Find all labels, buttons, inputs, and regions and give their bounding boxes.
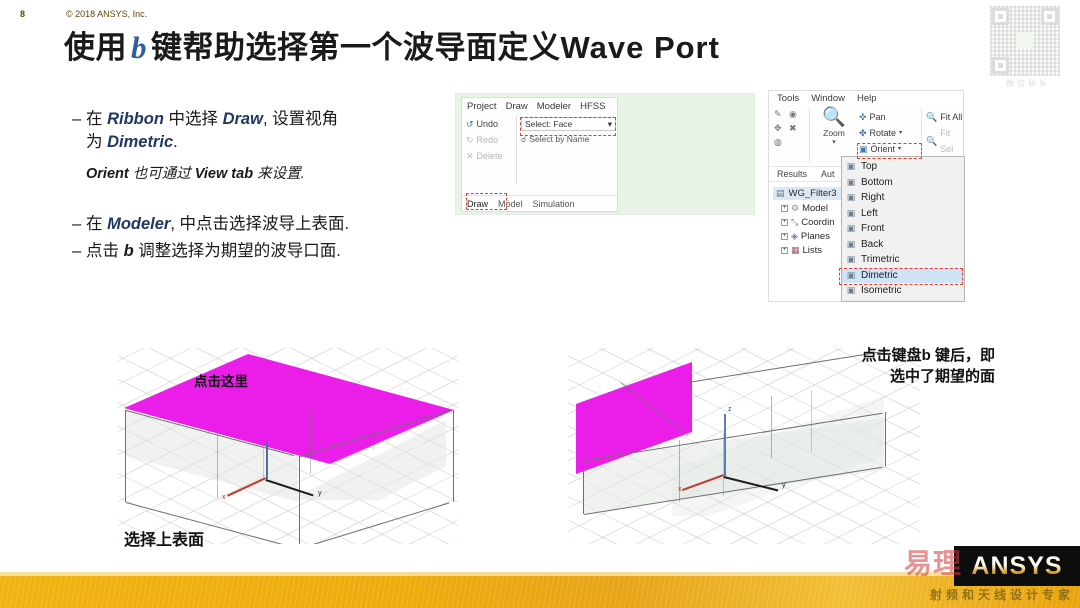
- pan-label: Pan: [870, 109, 886, 125]
- list-item: – 在 Ribbon 中选择 Draw, 设置视角为 Dimetric.: [72, 108, 472, 155]
- box-edge: [125, 410, 126, 502]
- qr-eye-bottom-left: [992, 57, 1009, 74]
- tree-label: Model: [802, 203, 828, 214]
- bullet-dash: –: [72, 108, 86, 155]
- pointer-icon: ☌: [521, 135, 526, 144]
- tree-label: Coordin: [801, 217, 834, 228]
- cube-icon: ▣: [859, 141, 868, 157]
- box-edge: [299, 456, 300, 544]
- iris-edge: [217, 432, 218, 498]
- menu-item-left[interactable]: ▣ Left: [842, 206, 964, 222]
- bullet-emphasis-ribbon: Ribbon: [107, 110, 164, 128]
- menu-item-front[interactable]: ▣ Front: [842, 221, 964, 237]
- tab-draw[interactable]: Draw: [462, 199, 493, 209]
- ansys-logo-text: ANSYS: [971, 552, 1062, 581]
- cube-top-icon: ▣: [846, 159, 856, 174]
- menu-item-trimetric[interactable]: ▣ Trimetric: [842, 252, 964, 268]
- menu-label: Trimetric: [861, 252, 900, 267]
- bullet-seg: 为: [86, 133, 107, 151]
- bullet-seg: 点击: [86, 242, 124, 260]
- bullet-seg: 在: [86, 215, 107, 233]
- slide-root: 微信联系 使用b键帮助选择第一个波导面定义Wave Port – 在 Ribbo…: [0, 0, 1080, 608]
- tree-label: Planes: [801, 231, 830, 242]
- ribbon-screenshot: Project Draw Modeler HFSS ↺ Undo ↻ Redo: [455, 93, 755, 215]
- menu-item-project[interactable]: Project: [467, 101, 497, 112]
- page-number: 8: [20, 9, 25, 19]
- delete-label: Delete: [477, 148, 503, 164]
- chevron-down-icon[interactable]: ▾: [898, 141, 901, 157]
- bullet-emphasis-dimetric: Dimetric: [107, 133, 173, 151]
- sub-note: Orient 也可通过 View tab 来设置.: [86, 162, 472, 183]
- menu-item-tools[interactable]: Tools: [777, 93, 799, 104]
- copyright-text: © 2018 ANSYS, Inc.: [66, 9, 147, 19]
- y-axis-label: y: [318, 490, 322, 497]
- select-mode-dropdown[interactable]: Select: Face ▾: [521, 117, 616, 131]
- cube-right-icon: ▣: [846, 190, 856, 205]
- eye-icon[interactable]: ◉: [789, 109, 801, 120]
- model-icon: ⚙: [791, 203, 799, 214]
- cube-dimetric-icon: ▣: [846, 268, 856, 283]
- watermark-red-text: 易理: [904, 542, 962, 582]
- menu-item-top[interactable]: ▣ Top: [842, 159, 964, 175]
- project-name: WG_Filter3: [789, 188, 837, 199]
- qr-eye-top-right: [1041, 8, 1058, 25]
- hide-icon[interactable]: ✖: [789, 123, 801, 134]
- menu-item-isometric[interactable]: ▣ Isometric: [842, 283, 964, 299]
- menu-item-draw[interactable]: Draw: [506, 101, 528, 112]
- note-view-tab: View tab: [195, 166, 253, 182]
- box-edge: [583, 460, 584, 514]
- z-axis: [724, 414, 726, 476]
- bullet-emphasis-b: b: [124, 242, 134, 260]
- page-title: 使用b键帮助选择第一个波导面定义Wave Port: [64, 22, 720, 67]
- chevron-down-icon[interactable]: ▾: [899, 125, 902, 141]
- right-view-caption: 点击键盘b 键后，即 选中了期望的面: [805, 345, 995, 387]
- menu-label: Front: [861, 221, 884, 236]
- rotate-button[interactable]: ✤ Rotate ▾: [859, 125, 921, 141]
- bullet-text: 点击 b 调整选择为期望的波导口面.: [86, 240, 341, 263]
- viewport-select-top-face[interactable]: x y 点击这里: [118, 348, 458, 544]
- left-view-caption: 选择上表面: [124, 526, 204, 550]
- x-axis-label: x: [222, 494, 226, 501]
- redo-icon: ↻: [466, 132, 474, 148]
- tab-simulation[interactable]: Simulation: [528, 199, 580, 209]
- chevron-down-icon[interactable]: ▾: [608, 119, 612, 130]
- iris-edge: [771, 396, 772, 458]
- cube-bottom-icon: ▣: [846, 175, 856, 190]
- iris-edge: [373, 392, 374, 450]
- iris-edge: [263, 418, 264, 478]
- view-command-group: ✜ Pan ✤ Rotate ▾ ▣ Orient ▾: [859, 109, 921, 157]
- caption-line-2: 选中了期望的面: [890, 368, 995, 385]
- z-axis: [266, 441, 268, 479]
- x-axis-label: x: [678, 486, 682, 493]
- undo-icon: ↺: [466, 116, 474, 132]
- ansys-logo: ANSYS: [954, 546, 1080, 586]
- menu-item-dimetric[interactable]: ▣ Dimetric: [842, 268, 964, 284]
- pan-button[interactable]: ✜ Pan: [859, 109, 921, 125]
- divider: [921, 108, 922, 163]
- ribbon-tabbar: Draw Model Simulation: [462, 195, 617, 211]
- menu-label: Bottom: [861, 175, 893, 190]
- click-here-annotation: 点击这里: [194, 370, 248, 390]
- undo-label: Undo: [477, 116, 499, 132]
- bullet-list: – 在 Ribbon 中选择 Draw, 设置视角为 Dimetric. Ori…: [72, 108, 472, 264]
- menu-label: Isometric: [861, 283, 902, 298]
- expand-icon[interactable]: +: [781, 219, 788, 226]
- orient-button[interactable]: ▣ Orient ▾: [859, 141, 921, 157]
- plane-icon: ◈: [791, 231, 798, 242]
- title-part-latin: Wave Port: [561, 30, 720, 65]
- ribbon-menubar: Project Draw Modeler HFSS: [462, 98, 617, 114]
- cube-front-icon: ▣: [846, 221, 856, 236]
- bullet-seg: 调整选择为期望的波导口面.: [134, 242, 341, 260]
- menu-item-right[interactable]: ▣ Right: [842, 190, 964, 206]
- delete-button[interactable]: ✕ Delete: [466, 148, 514, 164]
- menu-label: Dimetric: [861, 268, 898, 283]
- title-part-pre: 使用: [64, 30, 127, 65]
- select-by-name-button[interactable]: ☌ Select by Name: [521, 134, 616, 144]
- menu-item-back[interactable]: ▣ Back: [842, 237, 964, 253]
- orient-dropdown-menu[interactable]: ▣ Top ▣ Bottom ▣ Right ▣ Left ▣ Front ▣ …: [841, 156, 965, 302]
- pan-icon: ✜: [859, 109, 867, 125]
- select-by-name-label: Select by Name: [529, 134, 589, 144]
- list-icon: ▦: [791, 245, 800, 256]
- shade-icon[interactable]: ◍: [774, 137, 786, 148]
- close-icon: ✕: [466, 148, 474, 164]
- bullet-seg: 中选择: [164, 110, 223, 128]
- qr-code-icon: [990, 6, 1060, 76]
- tab-automation[interactable]: Aut: [821, 169, 835, 179]
- rotate-icon: ✤: [859, 125, 867, 141]
- iris-edge: [811, 390, 812, 452]
- fit-selection-label: Fit Sel: [940, 125, 963, 157]
- magnifier-icon: 🔍: [813, 108, 855, 128]
- fit-all-icon: 🔍: [926, 109, 937, 125]
- qr-watermark-label: 微信联系: [990, 78, 1066, 89]
- small-icon-cluster: ✎ ◉ ✥ ✖ ◍: [774, 109, 810, 148]
- orient-screenshot: Tools Window Help ✎ ◉ ✥ ✖ ◍ 🔍 Zoom ▾ ✜ P…: [768, 90, 964, 302]
- zoom-label: Zoom: [813, 128, 855, 138]
- cube-trimetric-icon: ▣: [846, 252, 856, 267]
- menu-label: Back: [861, 237, 883, 252]
- menu-label: Left: [861, 206, 878, 221]
- watermark-brand-text: 射频和天线设计专家: [930, 586, 1074, 603]
- select-label: Select:: [525, 119, 551, 129]
- note-seg: 来设置.: [253, 166, 305, 182]
- box-edge: [885, 412, 886, 466]
- orient-menubar: Tools Window Help: [769, 91, 963, 105]
- fit-group: 🔍 Fit All 🔍 Fit Sel: [926, 109, 963, 157]
- bullet-emphasis-modeler: Modeler: [107, 215, 170, 233]
- expand-icon[interactable]: +: [781, 233, 788, 240]
- rotate-label: Rotate: [870, 125, 897, 141]
- note-orient: Orient: [86, 166, 129, 182]
- z-axis-label: z: [728, 406, 732, 413]
- chevron-down-icon[interactable]: ▾: [813, 138, 855, 146]
- ribbon-body: ↺ Undo ↻ Redo ✕ Delete Select:: [462, 114, 617, 188]
- iris-edge: [310, 408, 311, 474]
- bullet-dash: –: [72, 213, 86, 236]
- bullet-emphasis-draw: Draw: [223, 110, 263, 128]
- bullet-seg: .: [173, 133, 178, 151]
- ribbon-edit-group: ↺ Undo ↻ Redo ✕ Delete: [466, 116, 514, 164]
- brush-icon[interactable]: ✎: [774, 109, 786, 120]
- bullet-seg: , 中点击选择波导上表面.: [170, 215, 349, 233]
- tab-model[interactable]: Model: [493, 199, 528, 209]
- redo-button[interactable]: ↻ Redo: [466, 132, 514, 148]
- qr-eye-top-left: [992, 8, 1009, 25]
- menu-item-bottom[interactable]: ▣ Bottom: [842, 175, 964, 191]
- bullet-seg: , 设置视角: [263, 110, 338, 128]
- menu-item-modeler[interactable]: Modeler: [537, 101, 571, 112]
- spacer: [72, 183, 472, 213]
- select-mode-text: Select: Face: [525, 119, 572, 129]
- ribbon-window: Project Draw Modeler HFSS ↺ Undo ↻ Redo: [461, 97, 618, 212]
- project-icon: ▤: [776, 188, 785, 199]
- list-item: – 点击 b 调整选择为期望的波导口面.: [72, 240, 472, 263]
- title-key-b: b: [127, 30, 151, 65]
- fit-all-label: Fit All: [940, 109, 962, 125]
- divider: [516, 116, 517, 184]
- tree-label: Lists: [803, 245, 823, 256]
- fit-selection-button[interactable]: 🔍 Fit Sel: [926, 125, 963, 157]
- wechat-logo-icon: [1016, 32, 1033, 49]
- zoom-button[interactable]: 🔍 Zoom ▾: [813, 108, 855, 146]
- select-value: Face: [553, 119, 572, 129]
- cube-left-icon: ▣: [846, 206, 856, 221]
- cube-isometric-icon: ▣: [846, 283, 856, 298]
- list-item: – 在 Modeler, 中点击选择波导上表面.: [72, 213, 472, 236]
- title-part-mid: 键帮助选择第一个波导面定义: [151, 30, 561, 65]
- menu-item-hfss[interactable]: HFSS: [580, 101, 605, 112]
- fit-all-button[interactable]: 🔍 Fit All: [926, 109, 963, 125]
- note-seg: 也可通过: [129, 166, 195, 182]
- caption-line-1: 点击键盘b 键后，即: [862, 347, 995, 364]
- paint-icon[interactable]: ✥: [774, 123, 786, 134]
- fit-selection-icon: 🔍: [926, 133, 937, 149]
- wechat-qr-watermark: 微信联系: [990, 6, 1066, 89]
- y-axis-label: y: [782, 482, 786, 489]
- bullet-dash: –: [72, 240, 86, 263]
- box-edge: [453, 410, 454, 502]
- axis-icon: ⤡: [791, 217, 798, 228]
- bullet-text: 在 Modeler, 中点击选择波导上表面.: [86, 213, 349, 236]
- tab-results[interactable]: Results: [777, 169, 807, 179]
- expand-icon[interactable]: +: [781, 205, 788, 212]
- menu-label: Right: [861, 190, 884, 205]
- ribbon-select-group: Select: Face ▾ ☌ Select by Name: [521, 117, 616, 144]
- redo-label: Redo: [477, 132, 499, 148]
- menu-label: Top: [861, 159, 877, 174]
- cube-back-icon: ▣: [846, 237, 856, 252]
- expand-icon[interactable]: +: [781, 247, 788, 254]
- bullet-seg: 在: [86, 110, 107, 128]
- divider: [809, 108, 810, 163]
- orient-label: Orient: [871, 141, 896, 157]
- menu-item-help[interactable]: Help: [857, 93, 877, 104]
- undo-button[interactable]: ↺ Undo: [466, 116, 514, 132]
- bullet-text: 在 Ribbon 中选择 Draw, 设置视角为 Dimetric.: [86, 108, 338, 155]
- menu-item-window[interactable]: Window: [811, 93, 845, 104]
